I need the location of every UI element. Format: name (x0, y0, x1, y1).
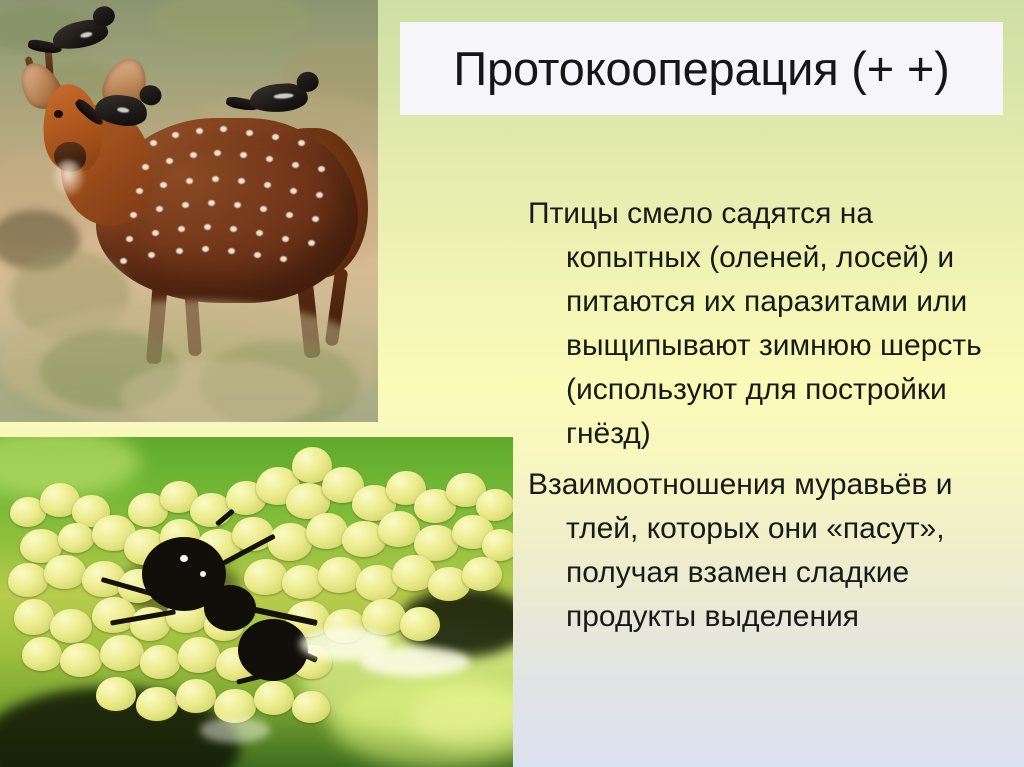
page-title: Протокооперация (+ +) (453, 45, 949, 92)
title-box: Протокооперация (+ +) (400, 22, 1003, 115)
deer-with-birds-photo (0, 0, 378, 422)
slide: Протокооперация (+ +) Птицы смело садятс… (0, 0, 1024, 767)
body-text-block: Птицы смело садятся на копытных (оленей,… (528, 192, 998, 639)
paragraph-ants-aphids: Взаимоотношения муравьёв и тлей, которых… (528, 463, 998, 639)
paragraph-birds-ungulates: Птицы смело садятся на копытных (оленей,… (528, 192, 998, 456)
ant-with-aphids-photo (0, 437, 513, 767)
deer-eye (54, 110, 63, 118)
